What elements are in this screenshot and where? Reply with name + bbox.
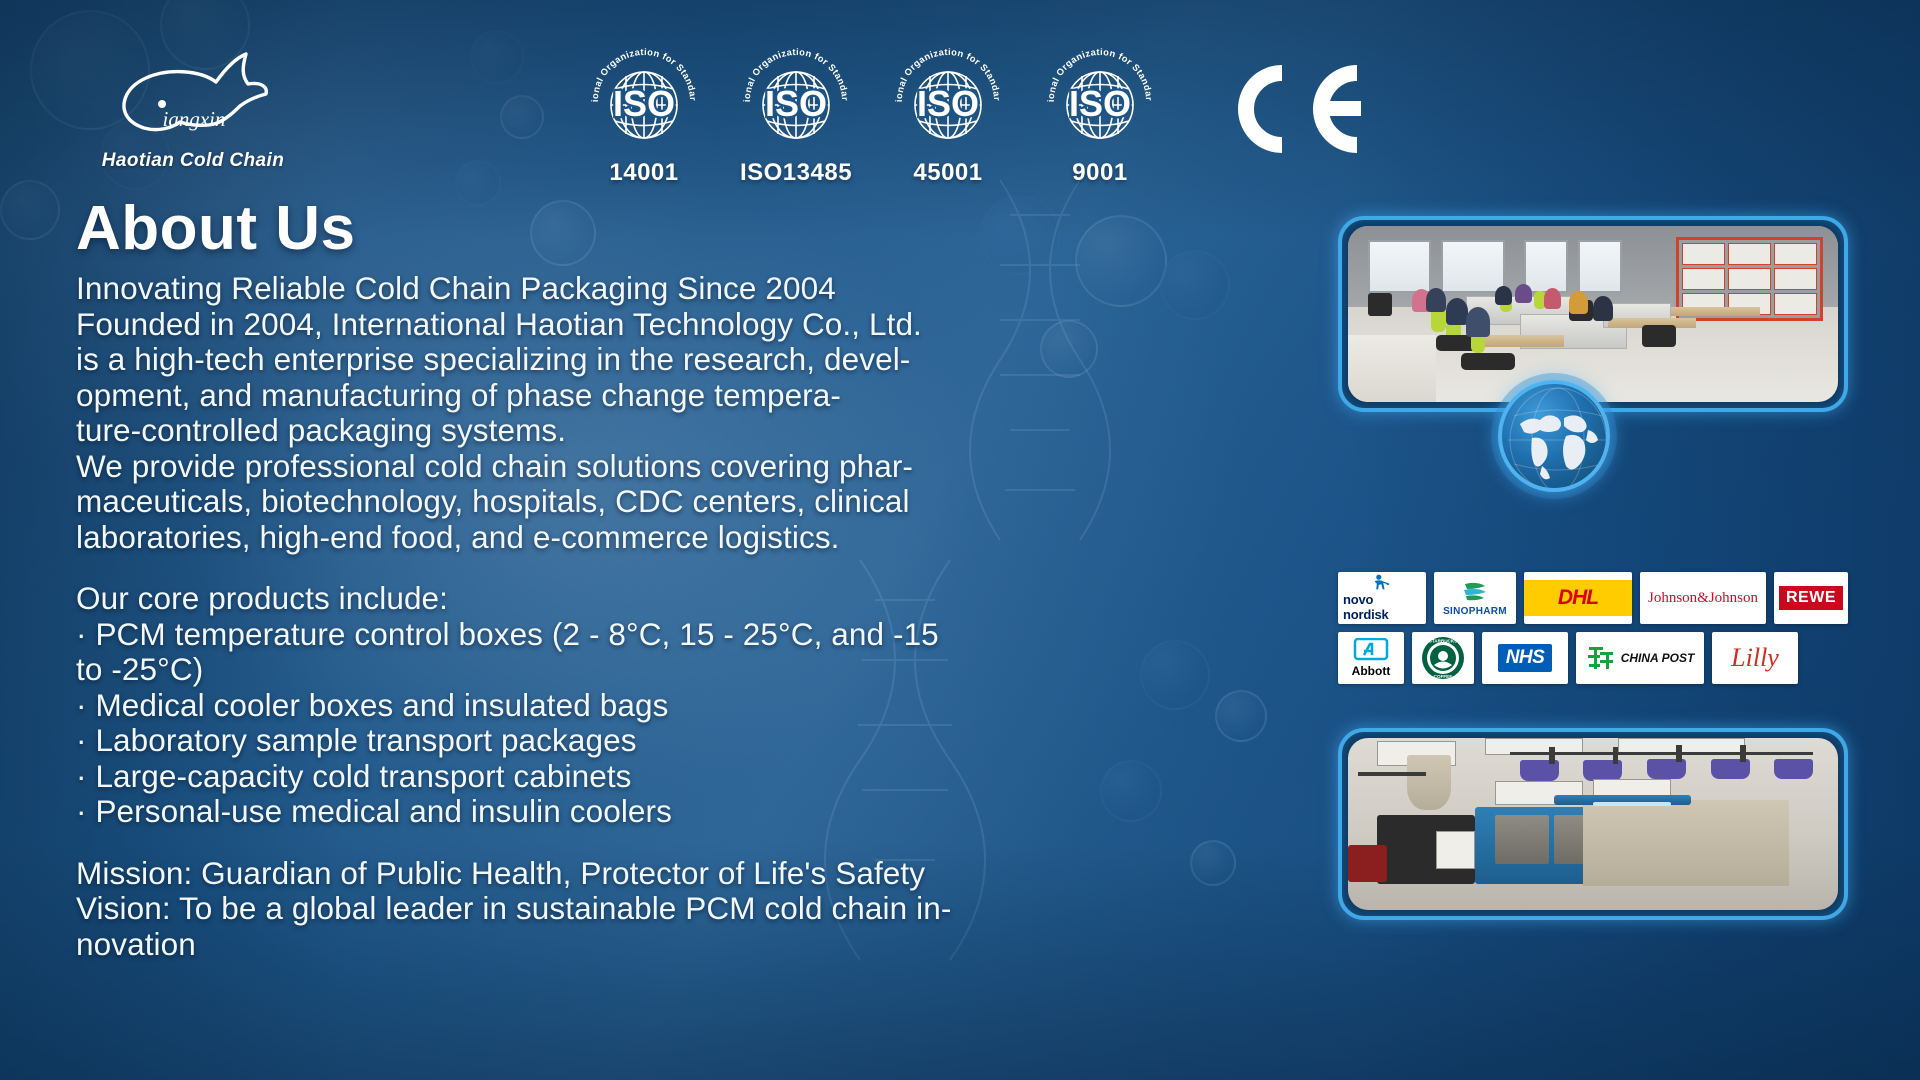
starbucks-logo: STARBUCKS COFFEE [1412, 632, 1474, 684]
paragraph-company: Founded in 2004, International Haotian T… [76, 307, 1326, 449]
client-name: novo nordisk [1343, 592, 1421, 622]
spacer [76, 830, 1326, 856]
certification-badge: International Organization for Standardi… [585, 45, 703, 187]
dhl-logo: DHL [1524, 572, 1632, 624]
svg-text:ISO: ISO [613, 83, 675, 124]
iso-seal-icon: International Organization for Standardi… [588, 45, 700, 157]
tagline: Innovating Reliable Cold Chain Packaging… [76, 271, 1326, 307]
about-section: About Us Innovating Reliable Cold Chain … [76, 196, 1326, 962]
sinopharm-logo: SINOPHARM [1434, 572, 1516, 624]
iso-seal-icon: International Organization for Standardi… [1044, 45, 1156, 157]
vision-statement: Vision: To be a global leader in sustain… [76, 891, 1326, 962]
svg-text:ISO: ISO [765, 83, 827, 124]
china-post-logo: CHINA POST [1576, 632, 1704, 684]
certification-badge: International Organization for Standardi… [1041, 45, 1159, 187]
certification-number: 45001 [889, 159, 1007, 187]
certification-badges: International Organization for Standardi… [585, 45, 1369, 187]
svg-text:ISO: ISO [1069, 83, 1131, 124]
client-name: REWE [1786, 589, 1836, 607]
factory-photo-frame [1338, 728, 1848, 920]
lilly-logo: Lilly [1712, 632, 1798, 684]
nhs-logo: NHS [1482, 632, 1568, 684]
client-name: Abbott [1352, 664, 1391, 678]
iso-seal-icon: International Organization for Standardi… [892, 45, 1004, 157]
novo-nordisk-logo: novo nordisk [1338, 572, 1426, 624]
whale-icon: iangxin [108, 48, 278, 148]
client-name: Johnson&Johnson [1648, 590, 1758, 607]
globe-icon [1498, 380, 1610, 492]
client-logo-row: novo nordisk SINOPHARM DHL Johnson&Johns… [1338, 572, 1898, 624]
certification-number: 9001 [1041, 159, 1159, 187]
client-logo-row: Abbott STARBUCKS COFFEE NHS CHINA POST L… [1338, 632, 1898, 684]
certification-badge: International Organization for Standardi… [737, 45, 855, 187]
client-name: NHS [1506, 647, 1545, 669]
client-name: CHINA POST [1621, 651, 1695, 665]
abbott-logo: Abbott [1338, 632, 1404, 684]
client-name: SINOPHARM [1443, 606, 1507, 617]
page-title: About Us [76, 196, 1326, 261]
certification-badge: International Organization for Standardi… [889, 45, 1007, 187]
office-workspace-photo [1348, 226, 1838, 402]
certification-number: ISO13485 [737, 159, 855, 187]
rewe-logo: REWE [1774, 572, 1848, 624]
svg-text:iangxin: iangxin [163, 107, 226, 131]
client-name: Lilly [1731, 643, 1779, 673]
brand-logo: iangxin Haotian Cold Chain [78, 48, 308, 172]
office-photo-frame [1338, 216, 1848, 412]
factory-production-line-photo [1348, 738, 1838, 910]
certification-number: 14001 [585, 159, 703, 187]
products-list: · PCM temperature control boxes (2 - 8°C… [76, 617, 1326, 830]
client-logos: novo nordisk SINOPHARM DHL Johnson&Johns… [1338, 572, 1898, 692]
paragraph-solutions: We provide professional cold chain solut… [76, 449, 1326, 556]
brand-name: Haotian Cold Chain [78, 150, 308, 172]
svg-text:STARBUCKS: STARBUCKS [1429, 639, 1458, 644]
products-heading: Our core products include: [76, 581, 1326, 617]
iso-seal-icon: International Organization for Standardi… [740, 45, 852, 157]
client-name: DHL [1558, 586, 1598, 610]
svg-text:ISO: ISO [917, 83, 979, 124]
svg-text:COFFEE: COFFEE [1434, 674, 1453, 679]
mission-statement: Mission: Guardian of Public Health, Prot… [76, 856, 1326, 892]
spacer [76, 555, 1326, 581]
ce-mark-icon [1219, 63, 1369, 160]
johnson-and-johnson-logo: Johnson&Johnson [1640, 572, 1766, 624]
